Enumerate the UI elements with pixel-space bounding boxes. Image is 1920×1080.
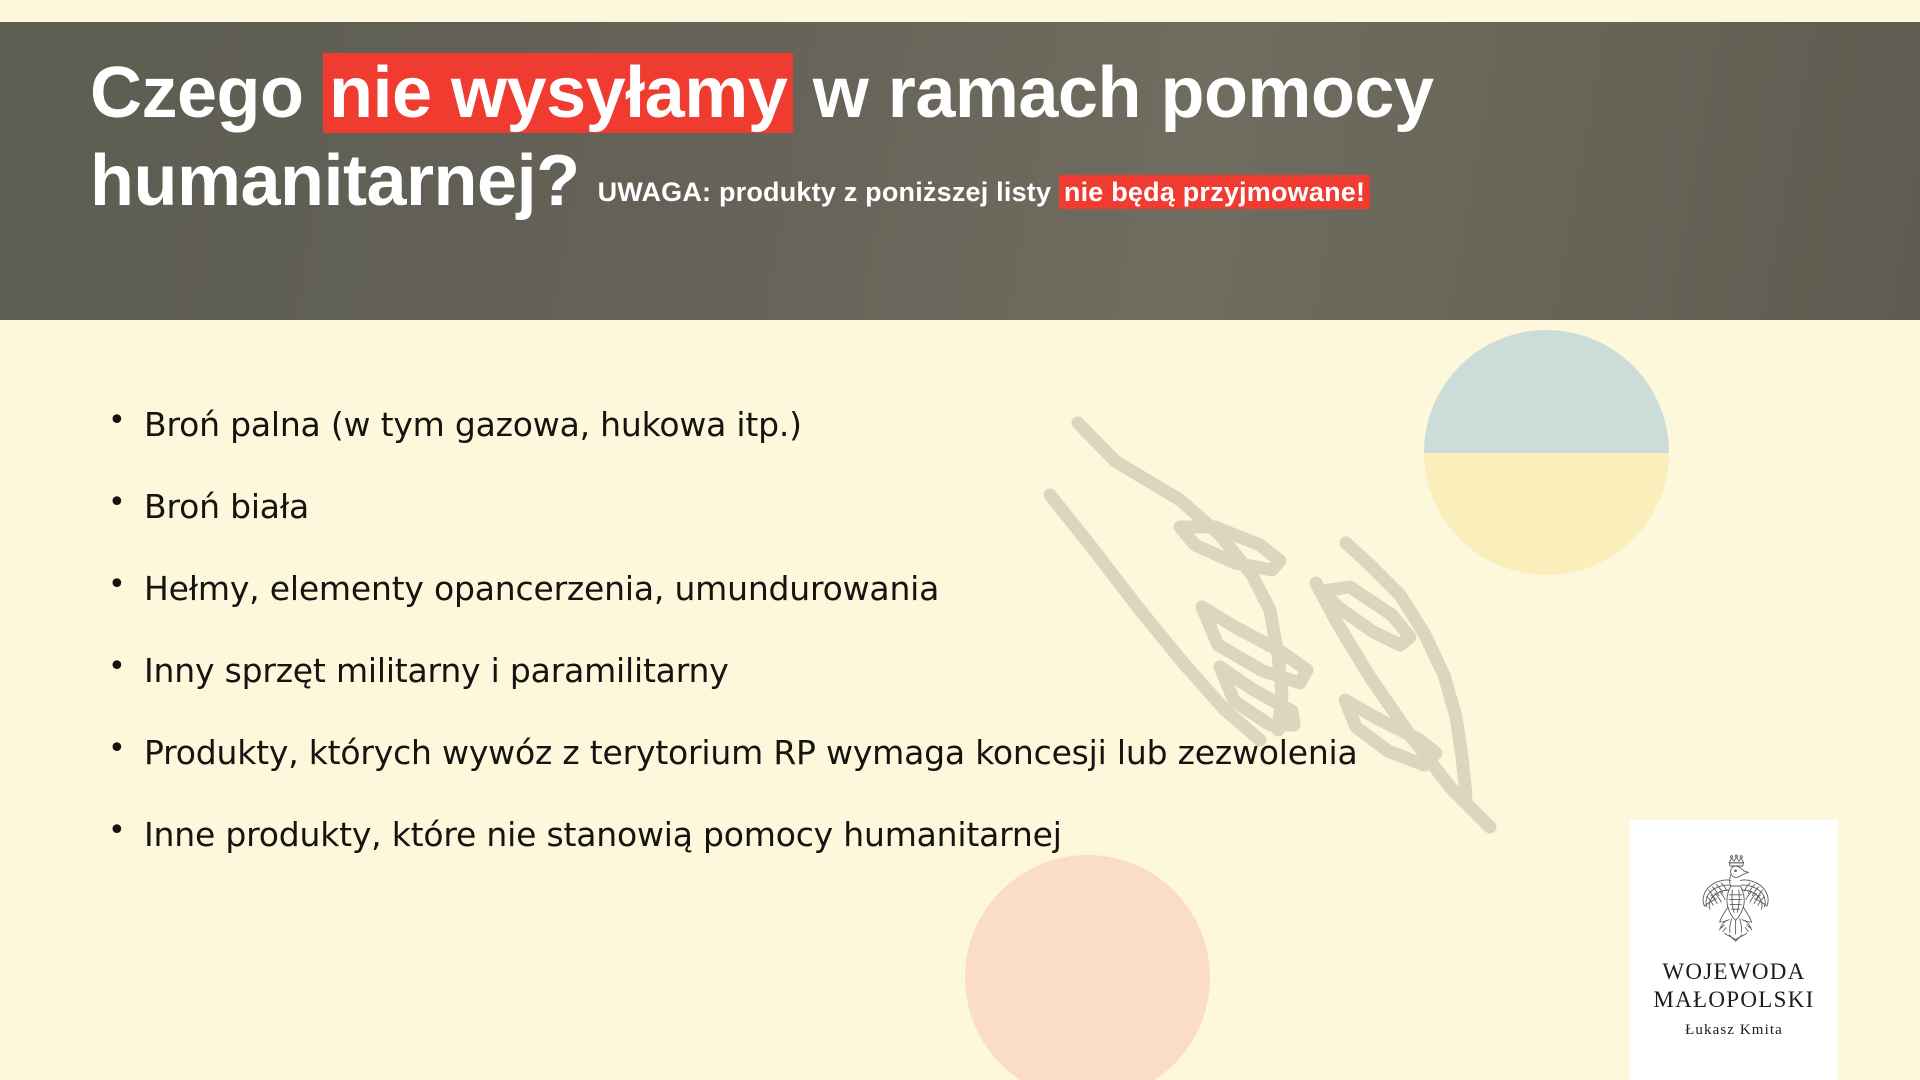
list-item: Inny sprzęt militarny i paramilitarny — [104, 654, 1724, 687]
logo-line-1: WOJEWODA — [1662, 958, 1805, 986]
logo-line-2: MAŁOPOLSKI — [1653, 986, 1814, 1014]
title-part-1: Czego — [90, 53, 323, 133]
list-item-label: Inne produkty, które nie stanowią pomocy… — [144, 815, 1062, 854]
header-banner: Czego nie wysyłamy w ramach pomocy human… — [0, 22, 1920, 320]
title-part-2: w ramach pomocy — [793, 53, 1433, 133]
header-content: Czego nie wysyłamy w ramach pomocy human… — [90, 50, 1880, 226]
page-title-line-1: Czego nie wysyłamy w ramach pomocy — [90, 50, 1880, 138]
page-title-line-2: humanitarnej? — [90, 138, 580, 226]
subtitle-highlight-warning: nie będą przyjmowane! — [1059, 175, 1370, 209]
list-item-label: Hełmy, elementy opancerzenia, umundurowa… — [144, 569, 939, 608]
list-item-label: Inny sprzęt militarny i paramilitarny — [144, 651, 729, 690]
subtitle-prefix: UWAGA: produkty z poniższej listy — [598, 177, 1059, 207]
prohibited-items-list: Broń palna (w tym gazowa, hukowa itp.) B… — [104, 408, 1724, 900]
list-item-label: Broń biała — [144, 487, 309, 526]
polish-eagle-emblem-icon — [1686, 850, 1782, 946]
slide-canvas: Czego nie wysyłamy w ramach pomocy human… — [0, 0, 1920, 1080]
logo-subline-name: Łukasz Kmita — [1685, 1022, 1783, 1039]
list-item: Produkty, których wywóz z terytorium RP … — [104, 736, 1724, 769]
list-item: Hełmy, elementy opancerzenia, umundurowa… — [104, 572, 1724, 605]
list-item: Inne produkty, które nie stanowią pomocy… — [104, 818, 1724, 851]
page-title-line-2-row: humanitarnej? UWAGA: produkty z poniższe… — [90, 138, 1880, 226]
title-highlight-nie-wysylamy: nie wysyłamy — [323, 53, 793, 133]
list-item-label: Broń palna (w tym gazowa, hukowa itp.) — [144, 405, 802, 444]
header-subtitle: UWAGA: produkty z poniższej listy nie bę… — [598, 176, 1371, 209]
list-item: Broń palna (w tym gazowa, hukowa itp.) — [104, 408, 1724, 441]
list-item-label: Produkty, których wywóz z terytorium RP … — [144, 733, 1358, 772]
list-item: Broń biała — [104, 490, 1724, 523]
wojewoda-malopolski-logo: WOJEWODA MAŁOPOLSKI Łukasz Kmita — [1630, 820, 1838, 1080]
